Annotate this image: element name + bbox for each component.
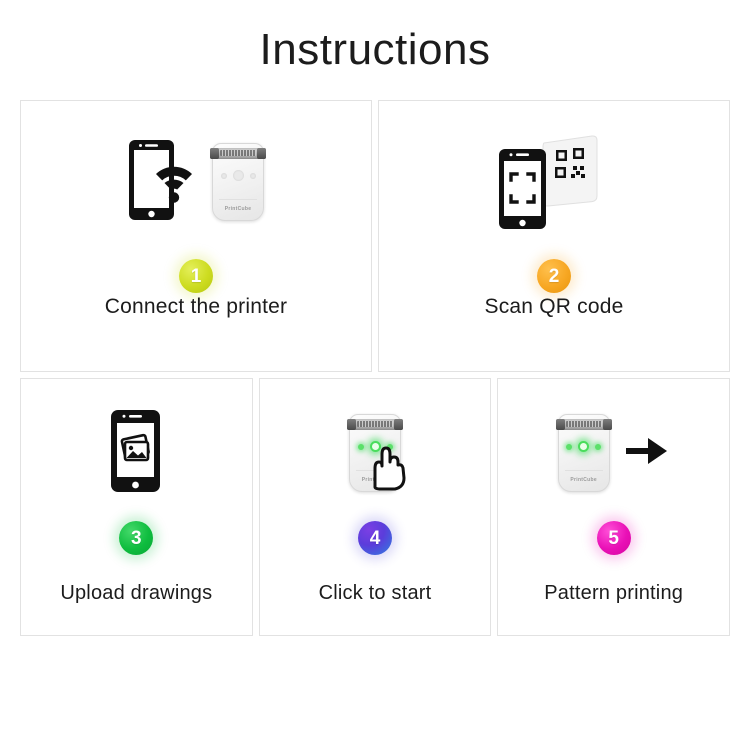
instructions-grid: PrintCube 1 Connect the printer: [0, 100, 750, 636]
printer-device-icon: PrintCube: [558, 414, 610, 492]
printer-led-left: [358, 444, 364, 450]
step-2-illustration: [379, 117, 729, 247]
step-caption-3: Upload drawings: [21, 582, 252, 605]
step-card-5[interactable]: PrintCube 5 Pattern printing: [497, 378, 730, 636]
printer-device-icon: PrintCube: [349, 414, 401, 492]
qr-code-icon: [540, 134, 600, 213]
step-badge-5: 5: [597, 521, 631, 555]
step-card-2[interactable]: 2 Scan QR code: [378, 100, 730, 372]
step-1-illustration: PrintCube: [21, 117, 371, 247]
step-caption-4: Click to start: [260, 582, 491, 605]
step-badge-1: 1: [179, 259, 213, 293]
step-badge-3: 3: [119, 521, 153, 555]
printer-strip-cap-left: [556, 419, 565, 430]
printer-led-right: [250, 173, 256, 179]
step-4-badge-wrap: 4: [358, 515, 392, 561]
instructions-row-bottom: 3 Upload drawings: [20, 378, 730, 636]
printer-seam: [565, 470, 603, 471]
printer-led-center: [233, 170, 244, 181]
printer-strip-cap-left: [210, 148, 219, 159]
step-caption-1: Connect the printer: [21, 295, 371, 319]
step-3-illustration: [21, 397, 252, 509]
step-1-badge-wrap: 1: [179, 253, 213, 299]
step-3-badge-wrap: 3: [119, 515, 153, 561]
step-badge-4: 4: [358, 521, 392, 555]
step-card-3[interactable]: 3 Upload drawings: [20, 378, 253, 636]
printer-strip-cap-right: [603, 419, 612, 430]
printer-paper-strip: [556, 419, 612, 430]
step-caption-5: Pattern printing: [498, 582, 729, 605]
step-2-badge-wrap: 2: [537, 253, 571, 299]
step-4-illustration: PrintCube: [260, 397, 491, 509]
printer-strip-text: [220, 150, 256, 156]
step-card-1[interactable]: PrintCube 1 Connect the printer: [20, 100, 372, 372]
printer-led-right: [595, 444, 601, 450]
step-card-4[interactable]: PrintCube 4 Click to start: [259, 378, 492, 636]
hand-tap-icon: [364, 441, 404, 487]
printer-brand-label: PrintCube: [559, 477, 609, 483]
instructions-row-top: PrintCube 1 Connect the printer: [20, 100, 730, 372]
printer-strip-cap-right: [394, 419, 403, 430]
arrow-right-icon: [624, 434, 670, 473]
printer-strip-text: [357, 421, 393, 427]
smartphone-photos-icon: [110, 409, 162, 498]
printer-paper-strip: [347, 419, 403, 430]
printer-leds: [213, 170, 263, 181]
printer-paper-strip: [210, 148, 266, 159]
printer-led-left: [221, 173, 227, 179]
step-5-illustration: PrintCube: [498, 397, 729, 509]
printer-brand-label: PrintCube: [213, 206, 263, 212]
printer-seam: [219, 199, 257, 200]
printer-strip-cap-right: [257, 148, 266, 159]
printer-leds: [559, 441, 609, 452]
step-caption-2: Scan QR code: [379, 295, 729, 319]
printer-strip-cap-left: [347, 419, 356, 430]
printer-strip-text: [566, 421, 602, 427]
printer-device-icon: PrintCube: [212, 143, 264, 221]
smartphone-wifi-icon: [128, 138, 200, 227]
step-5-badge-wrap: 5: [597, 515, 631, 561]
smartphone-scan-icon: [498, 148, 548, 235]
printer-led-center: [578, 441, 589, 452]
printer-led-left: [566, 444, 572, 450]
step-badge-2: 2: [537, 259, 571, 293]
page-title: Instructions: [0, 0, 750, 72]
